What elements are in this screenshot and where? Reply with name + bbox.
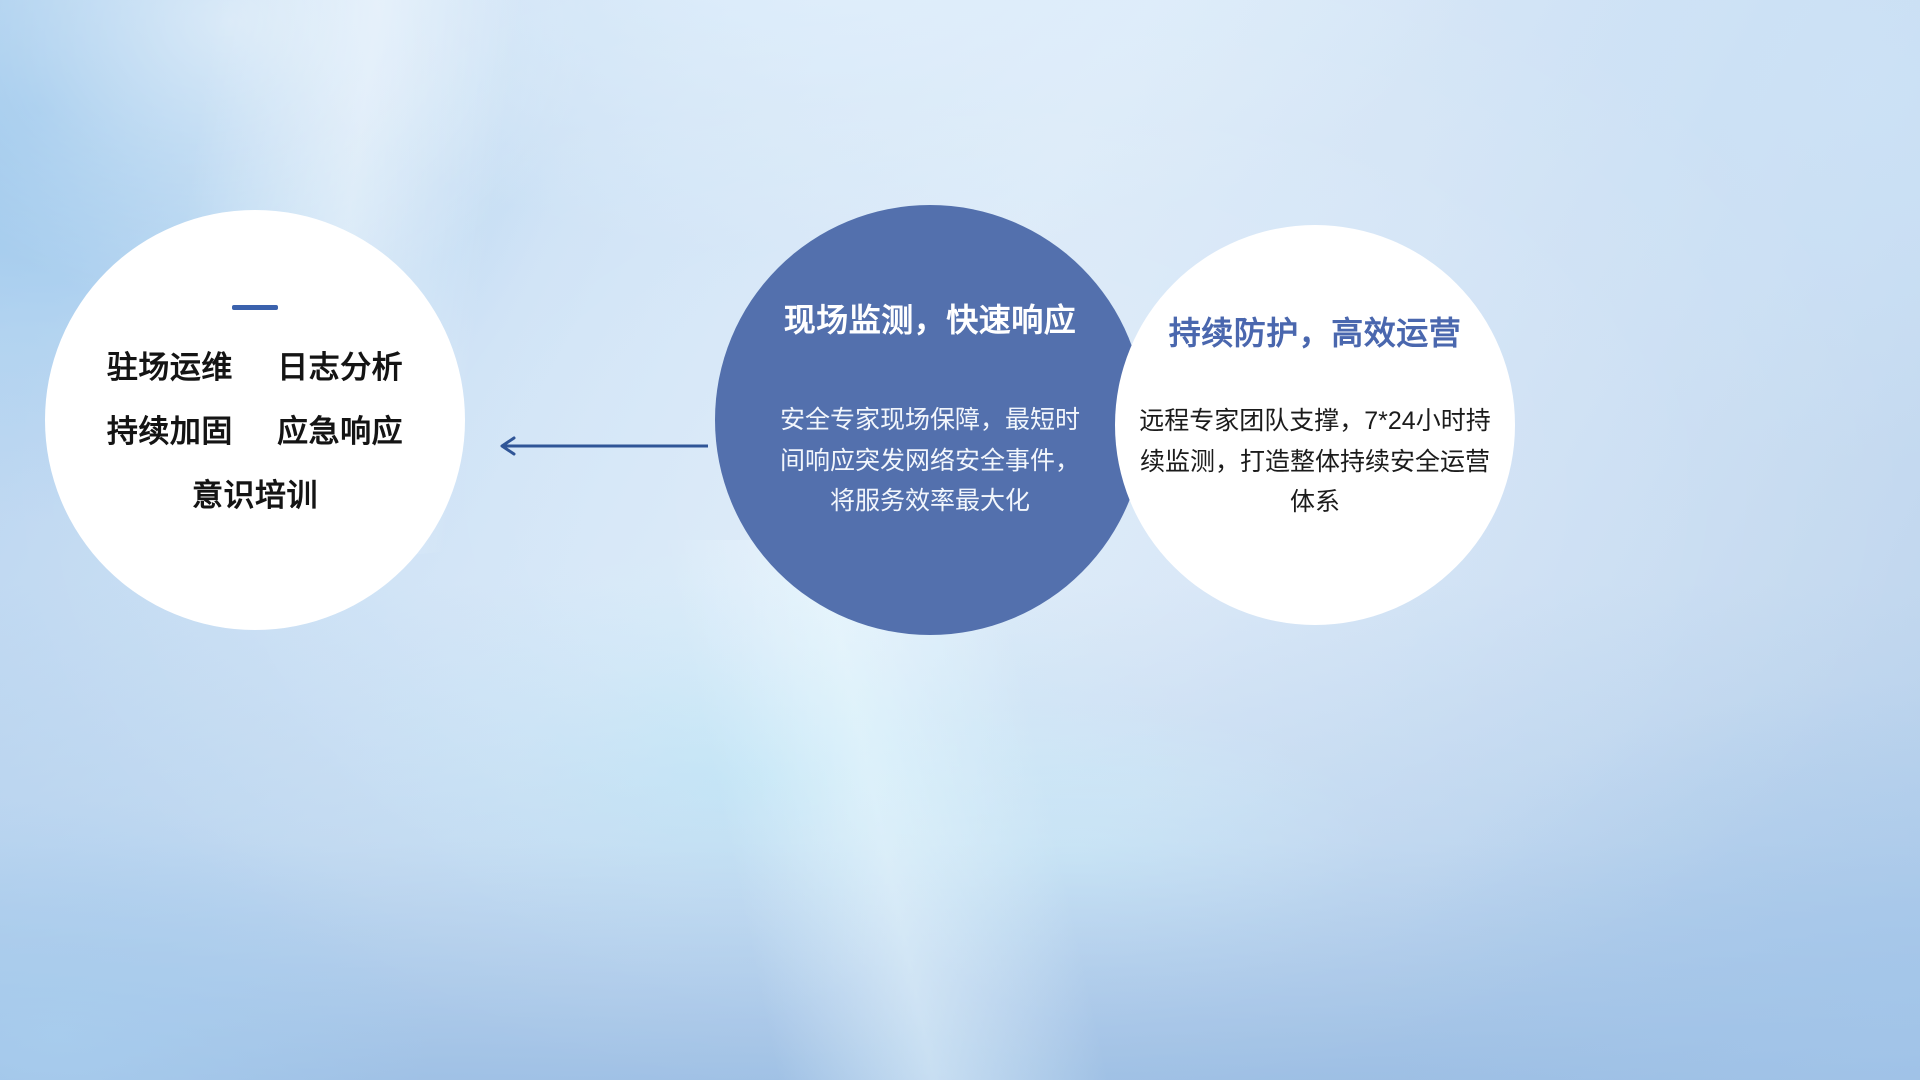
keyword-row-2: 持续加固 应急响应 <box>45 416 465 447</box>
left-circle-content: 驻场运维 日志分析 持续加固 应急响应 意识培训 <box>45 305 465 511</box>
arrow-left-icon <box>490 435 710 457</box>
middle-circle-body: 安全专家现场保障，最短时间响应突发网络安全事件，将服务效率最大化 <box>780 400 1080 522</box>
capability-circle-left[interactable]: 驻场运维 日志分析 持续加固 应急响应 意识培训 <box>45 210 465 630</box>
right-circle-body: 远程专家团队支撑，7*24小时持续监测，打造整体持续安全运营体系 <box>1135 401 1495 523</box>
keyword-2b: 应急响应 <box>277 414 403 449</box>
diagram-stage: 驻场运维 日志分析 持续加固 应急响应 意识培训 现场监测，快速响应 安全专家现… <box>0 0 1920 1080</box>
middle-circle-heading: 现场监测，快速响应 <box>784 295 1077 341</box>
keyword-1a: 驻场运维 <box>107 350 233 385</box>
keyword-2a: 持续加固 <box>107 414 233 449</box>
capability-circle-middle[interactable]: 现场监测，快速响应 安全专家现场保障，最短时间响应突发网络安全事件，将服务效率最… <box>715 205 1145 635</box>
divider-dash <box>232 305 278 310</box>
capability-circle-right[interactable]: 持续防护，高效运营 远程专家团队支撑，7*24小时持续监测，打造整体持续安全运营… <box>1115 225 1515 625</box>
keyword-row-1: 驻场运维 日志分析 <box>45 352 465 383</box>
keyword-row-3: 意识培训 <box>45 480 465 511</box>
keyword-3a: 意识培训 <box>192 478 318 513</box>
right-circle-heading: 持续防护，高效运营 <box>1169 308 1462 354</box>
keyword-1b: 日志分析 <box>277 350 403 385</box>
